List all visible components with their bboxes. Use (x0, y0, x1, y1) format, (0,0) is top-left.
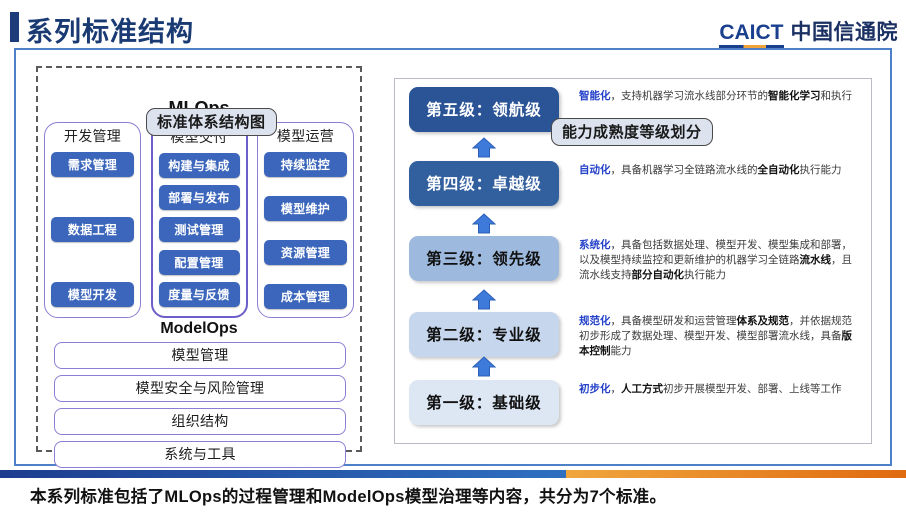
footer-stripe-orange (566, 470, 906, 478)
mlops-item-chip[interactable]: 模型开发 (51, 282, 134, 307)
footer-caption-text: 本系列标准包括了MLOps的过程管理和ModelOps模型治理等内容，共分为7个… (30, 483, 666, 507)
maturity-level-box[interactable]: 第三级：领先级 (409, 236, 559, 281)
maturity-level-description: 初步化，人工方式初步开展模型开发、部署、上线等工作 (579, 380, 861, 397)
modelops-row[interactable]: 系统与工具 (54, 441, 346, 468)
caict-logo: CAICT 中国信通院 (719, 16, 898, 48)
mlops-column-title: 模型运营 (277, 126, 334, 146)
mlops-item-chip[interactable]: 构建与集成 (159, 153, 240, 178)
maturity-level-description: 规范化，具备模型研发和运营管理体系及规范，并依据规范初步形成了数据处理、模型开发… (579, 312, 861, 360)
slide-header: 系列标准结构 CAICT 中国信通院 (0, 0, 906, 48)
modelops-rows: 模型管理模型安全与风险管理组织结构系统与工具 (54, 342, 346, 468)
mlops-item-chip[interactable]: 模型维护 (264, 196, 347, 221)
mlops-item-chip[interactable]: 需求管理 (51, 152, 134, 177)
mlops-column-items: 需求管理数据工程模型开发 (51, 150, 134, 311)
mlops-item-chip[interactable]: 持续监控 (264, 152, 347, 177)
up-arrow-icon (471, 356, 497, 378)
title-accent-bar (10, 12, 19, 42)
maturity-level-row: 第一级：基础级初步化，人工方式初步开展模型开发、部署、上线等工作 (409, 380, 861, 425)
maturity-level-box[interactable]: 第四级：卓越级 (409, 161, 559, 206)
mlops-item-chip[interactable]: 数据工程 (51, 217, 134, 242)
modelops-row[interactable]: 模型管理 (54, 342, 346, 369)
mlops-item-chip[interactable]: 资源管理 (264, 240, 347, 265)
mlops-item-chip[interactable]: 部署与发布 (159, 185, 240, 210)
maturity-level-description: 自动化，具备机器学习全链路流水线的全自动化执行能力 (579, 161, 861, 178)
content-frame: MLOps 开发管理需求管理数据工程模型开发模型交付构建与集成部署与发布测试管理… (14, 48, 892, 466)
mlops-column-items: 构建与集成部署与发布测试管理配置管理度量与反馈 (159, 151, 240, 310)
mlops-item-chip[interactable]: 度量与反馈 (159, 282, 240, 307)
up-arrow-icon (471, 137, 497, 159)
page-title: 系列标准结构 (26, 10, 194, 49)
mlops-column-title: 开发管理 (64, 126, 121, 146)
maturity-level-box[interactable]: 第二级：专业级 (409, 312, 559, 357)
mlops-column-items: 持续监控模型维护资源管理成本管理 (264, 150, 347, 311)
maturity-level-box[interactable]: 第一级：基础级 (409, 380, 559, 425)
logo-mark-text: CAICT (719, 21, 783, 48)
mlops-column: 模型运营持续监控模型维护资源管理成本管理 (257, 122, 354, 318)
maturity-level-description: 系统化，具备包括数据处理、模型开发、模型集成和部署，以及模型持续监控和更新维护的… (579, 236, 861, 284)
mlops-item-chip[interactable]: 成本管理 (264, 284, 347, 309)
maturity-level-row: 第四级：卓越级自动化，具备机器学习全链路流水线的全自动化执行能力 (409, 161, 861, 206)
modelops-row[interactable]: 模型安全与风险管理 (54, 375, 346, 402)
left-panel-caption: 标准体系结构图 (146, 108, 277, 136)
footer-caption-bar: 本系列标准包括了MLOps的过程管理和ModelOps模型治理等内容，共分为7个… (0, 478, 906, 512)
maturity-level-box[interactable]: 第五级：领航级 (409, 87, 559, 132)
mlops-item-chip[interactable]: 测试管理 (159, 217, 240, 242)
mlops-item-chip[interactable]: 配置管理 (159, 250, 240, 275)
footer-stripe (0, 470, 906, 478)
modelops-row[interactable]: 组织结构 (54, 408, 346, 435)
maturity-level-row: 第三级：领先级系统化，具备包括数据处理、模型开发、模型集成和部署，以及模型持续监… (409, 236, 861, 284)
up-arrow-icon (471, 213, 497, 235)
mlops-columns: 开发管理需求管理数据工程模型开发模型交付构建与集成部署与发布测试管理配置管理度量… (44, 122, 354, 318)
up-arrow-icon (471, 289, 497, 311)
logo-chinese-text: 中国信通院 (791, 16, 899, 46)
modelops-heading: ModelOps (38, 320, 360, 338)
mlops-column: 开发管理需求管理数据工程模型开发 (44, 122, 141, 318)
mlops-column: 模型交付构建与集成部署与发布测试管理配置管理度量与反馈 (151, 122, 248, 318)
right-panel-caption: 能力成熟度等级划分 (551, 118, 713, 146)
maturity-level-description: 智能化，支持机器学习流水线部分环节的智能化学习和执行 (579, 87, 861, 104)
footer-stripe-blue (0, 470, 566, 478)
maturity-level-row: 第二级：专业级规范化，具备模型研发和运营管理体系及规范，并依据规范初步形成了数据… (409, 312, 861, 360)
